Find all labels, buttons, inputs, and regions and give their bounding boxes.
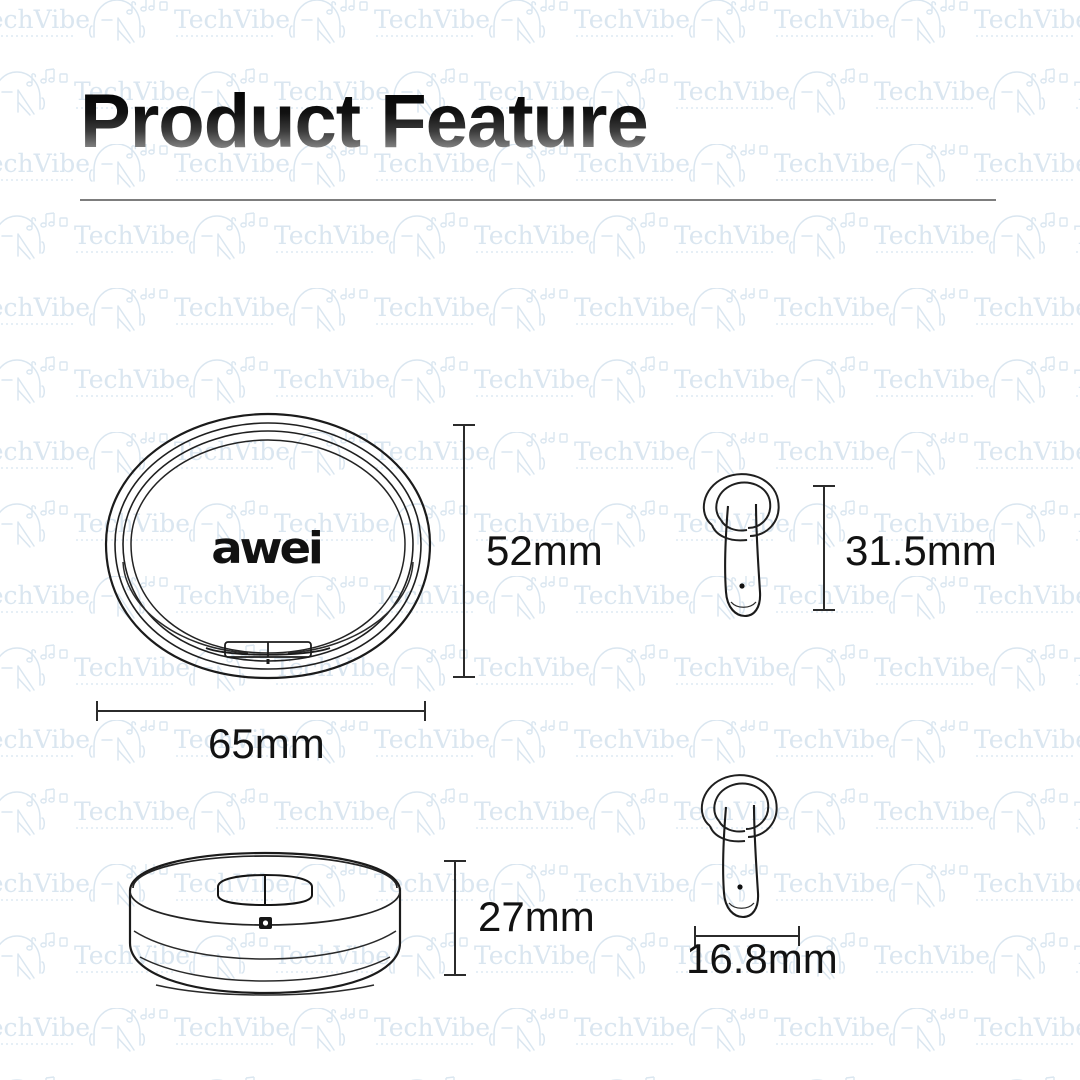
dimension-line-bud-height (812, 485, 836, 611)
dimension-cap-top (444, 860, 466, 862)
title-divider (80, 199, 996, 201)
dimension-label-bud-width: 16.8mm (686, 938, 838, 980)
dimension-label-case-depth: 27mm (478, 896, 595, 938)
dimension-cap-left (96, 701, 98, 721)
dimension-cap-top (813, 485, 835, 487)
dimension-cap-bottom (453, 676, 475, 678)
dimension-label-case-width: 65mm (208, 723, 325, 765)
dimension-label-bud-height: 31.5mm (845, 530, 997, 572)
dimension-label-case-height: 52mm (486, 530, 603, 572)
earbud-side-view (690, 470, 800, 630)
dimension-bar (463, 424, 465, 678)
dimension-bar (454, 860, 456, 976)
dimension-line-case-height (452, 424, 476, 678)
page-title: Product Feature (80, 84, 648, 160)
product-feature-page: TechVibe Product Feature (0, 0, 1080, 1080)
dimension-bar (823, 485, 825, 611)
charging-case-side-view (100, 845, 430, 1000)
dimension-cap-bottom (813, 609, 835, 611)
dimension-cap-top (453, 424, 475, 426)
dimension-line-case-width (96, 700, 426, 722)
dimension-bar (96, 710, 426, 712)
dimension-line-case-depth (443, 860, 467, 976)
earbud-front-view (690, 770, 800, 930)
dimension-cap-right (424, 701, 426, 721)
awei-brand-logo: awei (192, 527, 340, 571)
dimension-cap-bottom (444, 974, 466, 976)
